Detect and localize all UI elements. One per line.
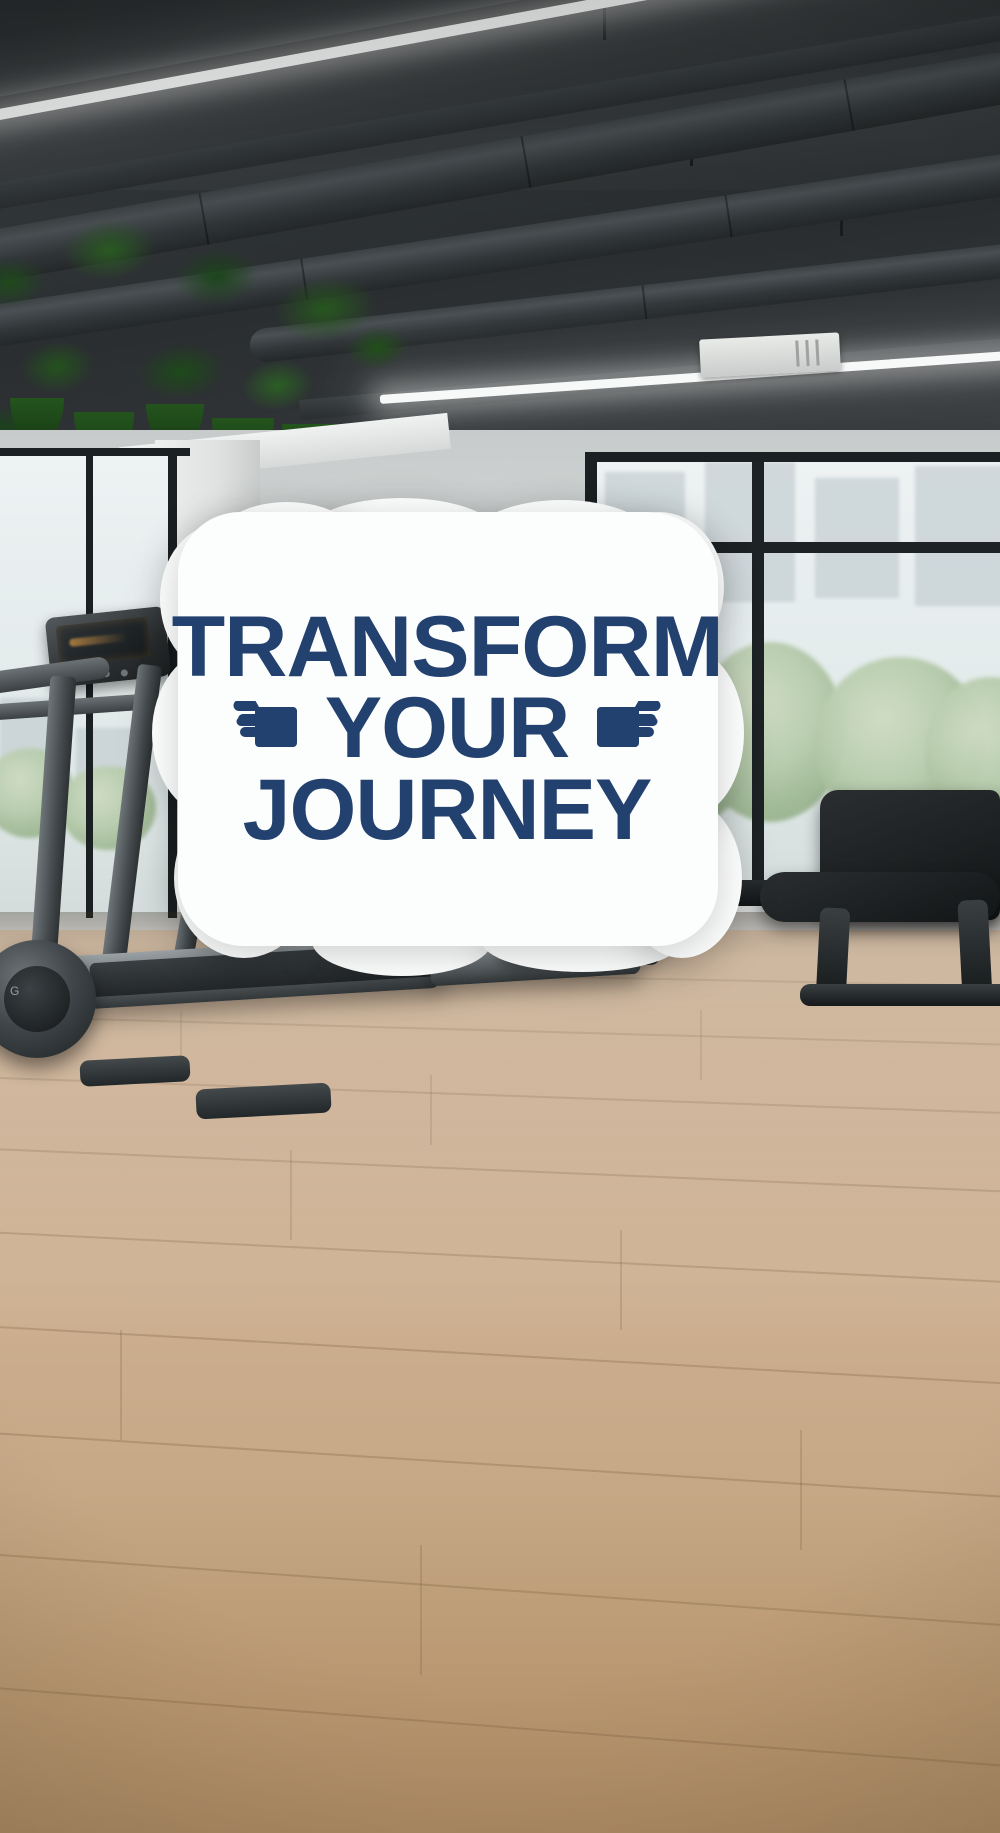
headline-text-block: TRANSFORM YOUR JOURNEY: [152, 498, 742, 960]
pointing-hand-right-icon: [233, 701, 311, 757]
headline-word-journey: JOURNEY: [243, 771, 652, 850]
window-mullion: [752, 452, 764, 902]
pointing-hand-left-icon: [583, 701, 661, 757]
bench-base: [800, 984, 1000, 1006]
headline-line-2: YOUR: [233, 689, 661, 768]
headline-sticker-badge: TRANSFORM YOUR JOURNEY: [152, 498, 742, 960]
headline-word-your: YOUR: [325, 689, 569, 768]
fitness-poster: G TRANSFORM: [0, 0, 1000, 1833]
window-frame: [585, 452, 1000, 462]
headline-line-3: JOURNEY: [243, 771, 652, 850]
headline-word-transform: TRANSFORM: [171, 608, 722, 687]
ac-vent: [699, 332, 841, 377]
equipment-brand-label: G: [10, 984, 20, 998]
headline-line-1: TRANSFORM: [177, 608, 717, 687]
window-frame: [0, 448, 190, 456]
